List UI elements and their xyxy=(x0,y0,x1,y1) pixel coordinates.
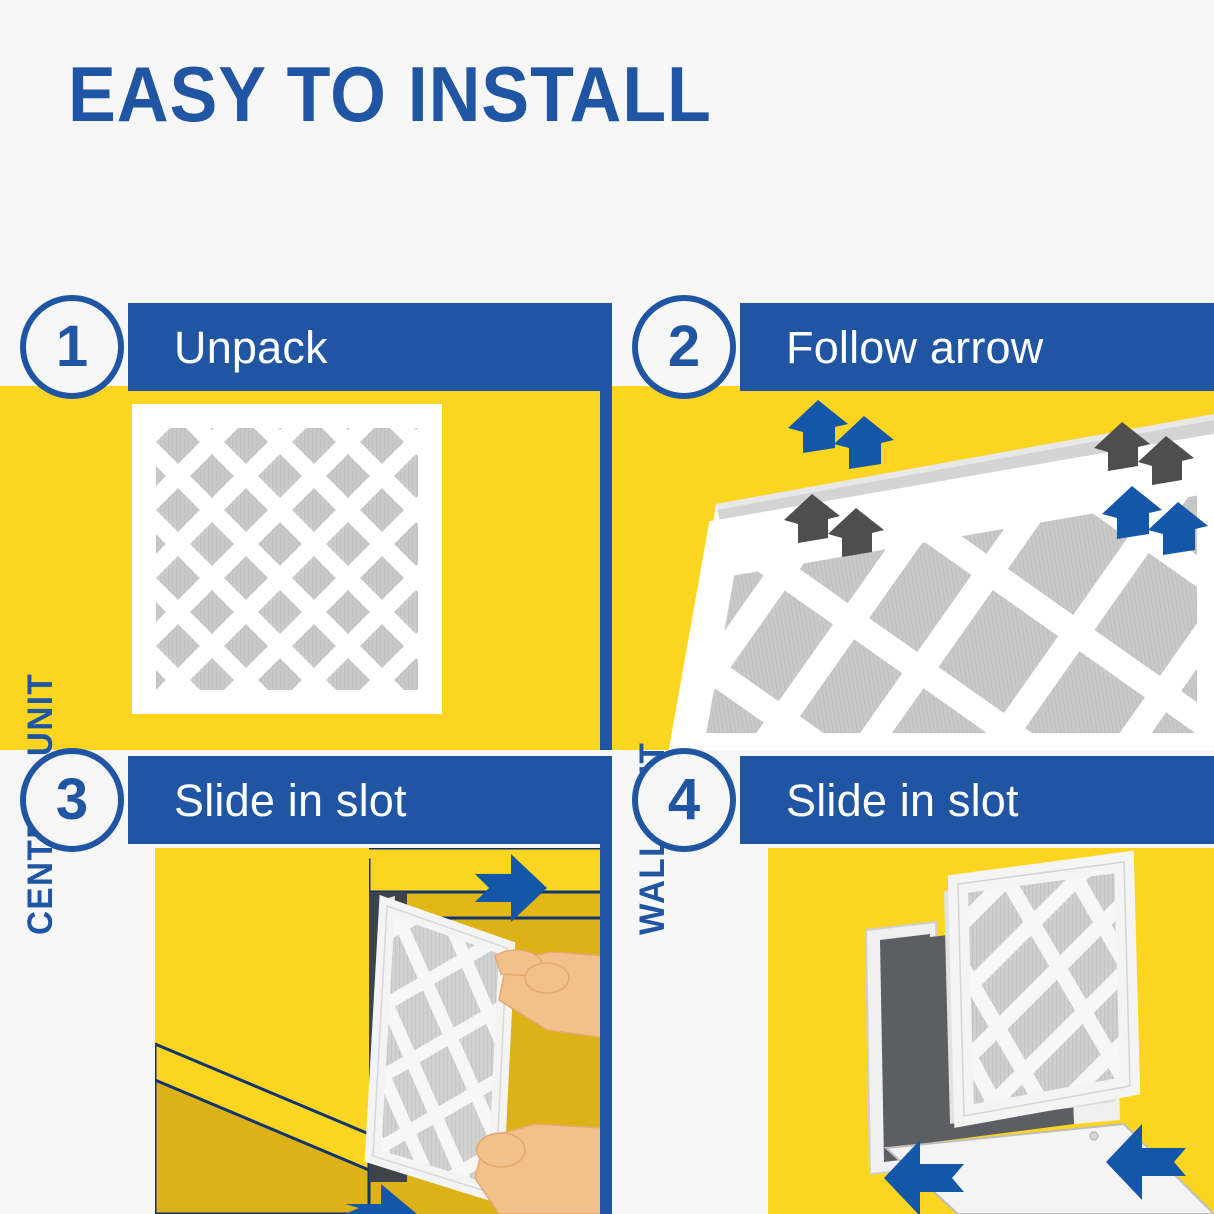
step-2-header: Follow arrow xyxy=(740,303,1214,391)
step-1-header: Unpack xyxy=(128,303,600,391)
hand-lower xyxy=(475,1124,605,1214)
airflow-arrow-blue-left xyxy=(788,400,894,469)
step-4-header: Slide in slot xyxy=(740,756,1214,844)
divider-vertical-top xyxy=(600,303,612,750)
step-1-illustration-area xyxy=(0,386,600,750)
step-2-number: 2 xyxy=(668,318,700,376)
step-1-label: Unpack xyxy=(174,325,328,370)
step-2-badge: 2 xyxy=(632,295,736,399)
furnace-filter-insert-graphic xyxy=(155,848,605,1214)
step-1-badge: 1 xyxy=(20,295,124,399)
page-title: EASY TO INSTALL xyxy=(68,52,712,136)
step-2-illustration-area xyxy=(612,386,1214,750)
step-4-badge: 4 xyxy=(632,748,736,852)
wall-vent-filter-graphic xyxy=(768,848,1214,1214)
step-3-header: Slide in slot xyxy=(128,756,600,844)
step-4-number: 4 xyxy=(668,771,700,829)
filter-front-view-graphic xyxy=(0,386,600,750)
step-4-illustration-area xyxy=(768,848,1214,1214)
step-3-number: 3 xyxy=(56,771,88,829)
step-3-badge: 3 xyxy=(20,748,124,852)
step-3-illustration-area xyxy=(155,848,605,1214)
step-1-number: 1 xyxy=(56,318,88,376)
step-3-label: Slide in slot xyxy=(174,778,407,823)
step-4-label: Slide in slot xyxy=(786,778,1019,823)
infographic-canvas: EASY TO INSTALL xyxy=(0,0,1214,1214)
tilted-filter-graphic xyxy=(612,386,1214,750)
divider-vertical-bottom xyxy=(600,756,612,1214)
step-2-label: Follow arrow xyxy=(786,325,1043,370)
filter-being-inserted-wall xyxy=(928,848,1178,1153)
